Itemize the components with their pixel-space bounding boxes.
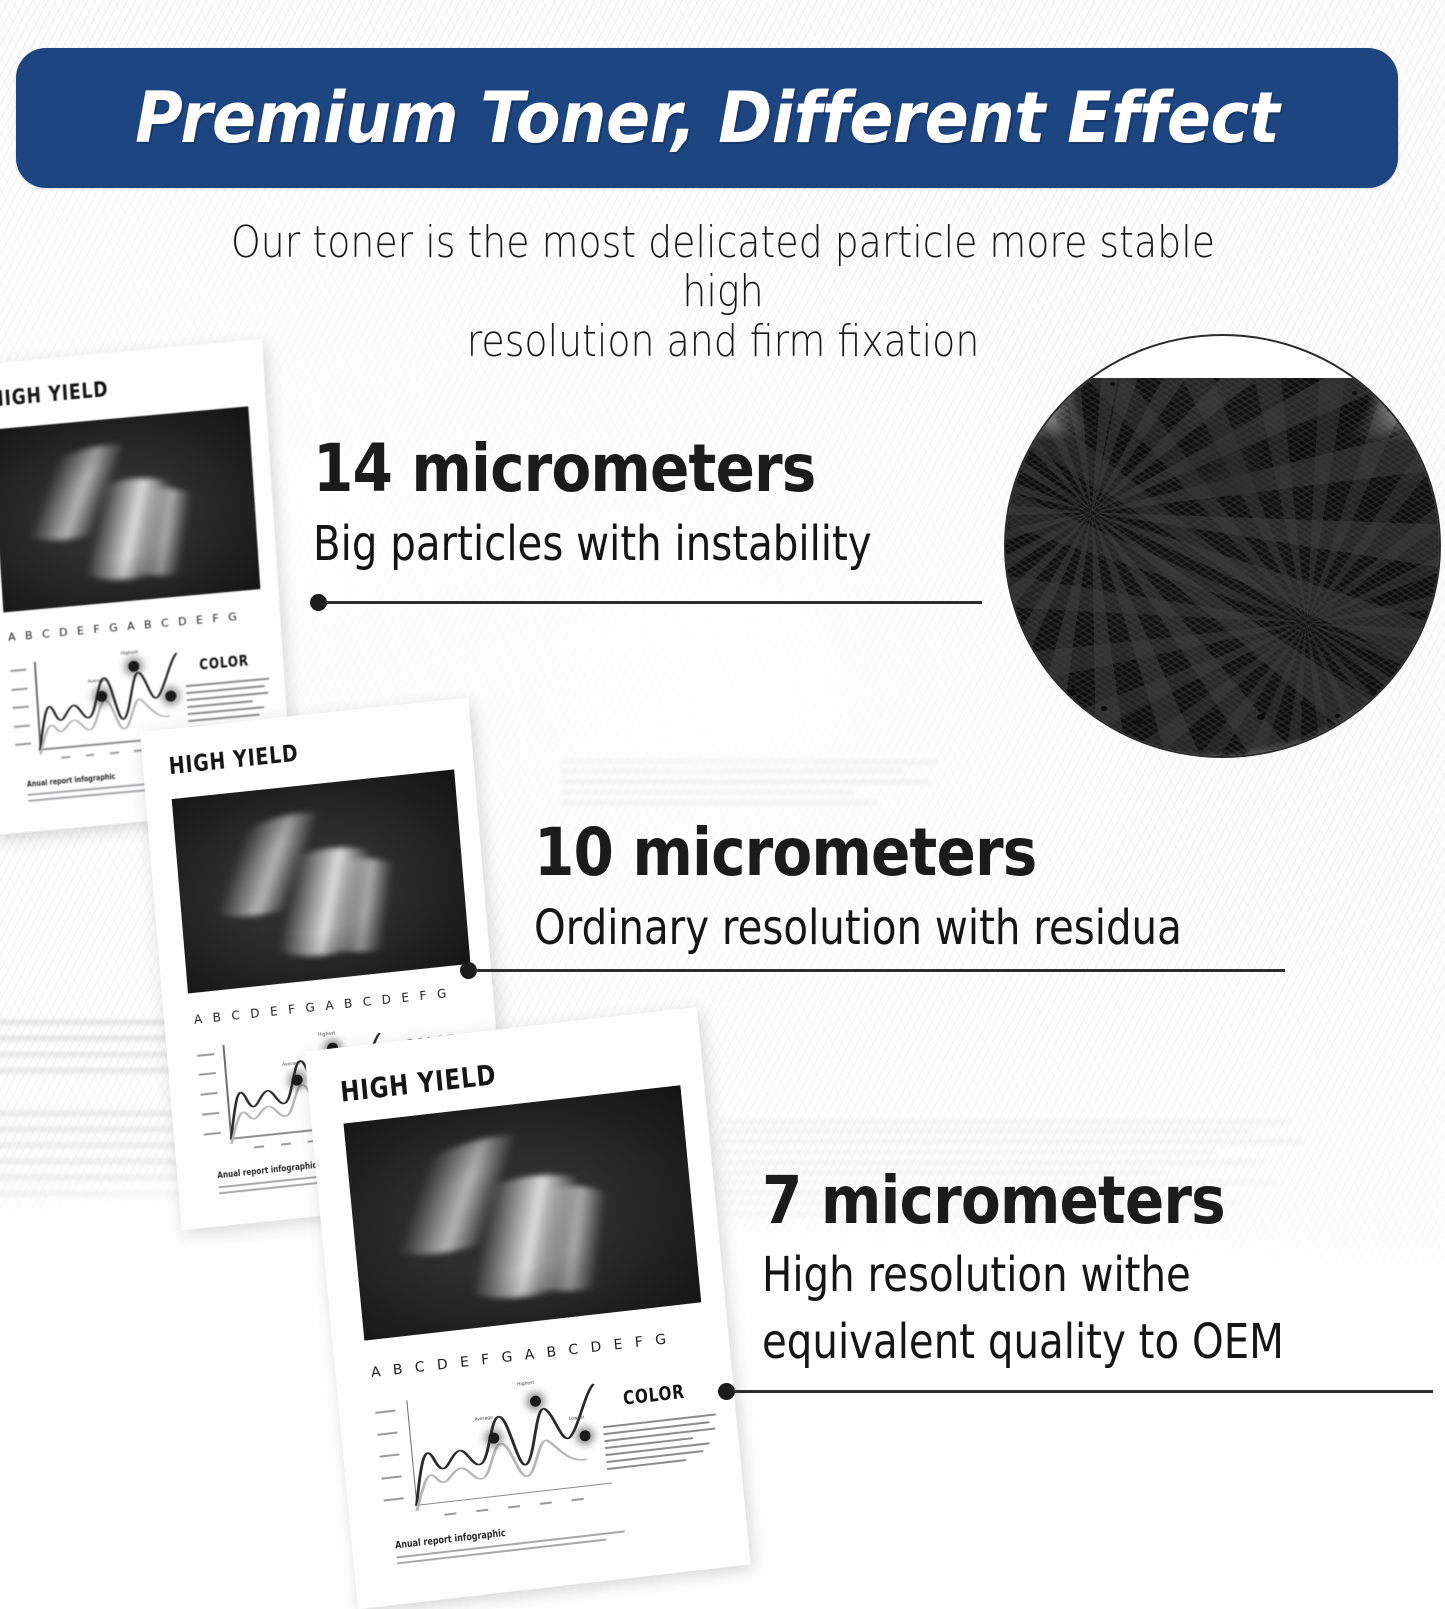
page-1-title: HIGH YIELD bbox=[0, 376, 109, 411]
toner-powder-circle bbox=[1004, 334, 1441, 758]
callout-14-rule bbox=[310, 594, 982, 611]
toner-crest-highlight bbox=[1176, 417, 1279, 496]
page-3-title: HIGH YIELD bbox=[339, 1058, 498, 1109]
page-2-photo bbox=[172, 769, 471, 993]
callout-10-rule bbox=[460, 962, 1285, 979]
callout-14-line bbox=[325, 601, 982, 604]
page-1-color-heading: COLOR bbox=[199, 652, 250, 674]
background-blurred-text-topright bbox=[560, 760, 980, 811]
toner-powder-pile bbox=[1004, 378, 1441, 758]
page-1-photo bbox=[0, 406, 260, 612]
callout-14-size: 14 micrometers bbox=[313, 436, 898, 502]
callout-7-micrometers: 7 micrometers High resolution withe equi… bbox=[762, 1168, 1383, 1368]
callout-10-size: 10 micrometers bbox=[534, 820, 1213, 886]
page-2-letters: A B C D E F G A B C D E F G bbox=[193, 986, 450, 1027]
callout-7-size: 7 micrometers bbox=[762, 1168, 1309, 1234]
printed-page-3: HIGH YIELD A B C D E F G A B C D E F G A… bbox=[304, 1007, 750, 1609]
callout-10-line bbox=[475, 969, 1285, 972]
subtitle-line-1: Our toner is the most delicated particle… bbox=[185, 218, 1260, 317]
callout-14-description: Big particles with instability bbox=[313, 520, 872, 568]
page-3-color-heading: COLOR bbox=[622, 1380, 686, 1409]
callout-7-description-line-2: equivalent quality to OEM bbox=[762, 1317, 1284, 1368]
page-2-title: HIGH YIELD bbox=[168, 741, 300, 781]
callout-10-micrometers: 10 micrometers Ordinary resolution with … bbox=[534, 820, 1305, 952]
page-title: Premium Toner, Different Effect bbox=[135, 77, 1279, 159]
page-3-chart: Average Highest Lowest bbox=[374, 1378, 613, 1527]
callout-7-rule bbox=[718, 1383, 1433, 1400]
page-3-photo bbox=[343, 1085, 701, 1341]
subtitle-line-2: resolution and firm fixation bbox=[185, 317, 1260, 366]
callout-14-micrometers: 14 micrometers Big particles with instab… bbox=[313, 436, 978, 568]
callout-7-description: High resolution withe bbox=[762, 1250, 1284, 1301]
page-3-letters: A B C D E F G A B C D E F G bbox=[370, 1331, 670, 1381]
callout-7-line bbox=[733, 1390, 1433, 1393]
callout-10-description: Ordinary resolution with residua bbox=[534, 904, 1182, 952]
subtitle-text: Our toner is the most delicated particle… bbox=[98, 218, 1348, 366]
header-banner: Premium Toner, Different Effect bbox=[16, 48, 1398, 188]
page-3-color-body bbox=[602, 1413, 721, 1475]
page-1-letters: A B C D E F G A B C D E F G bbox=[8, 610, 240, 644]
